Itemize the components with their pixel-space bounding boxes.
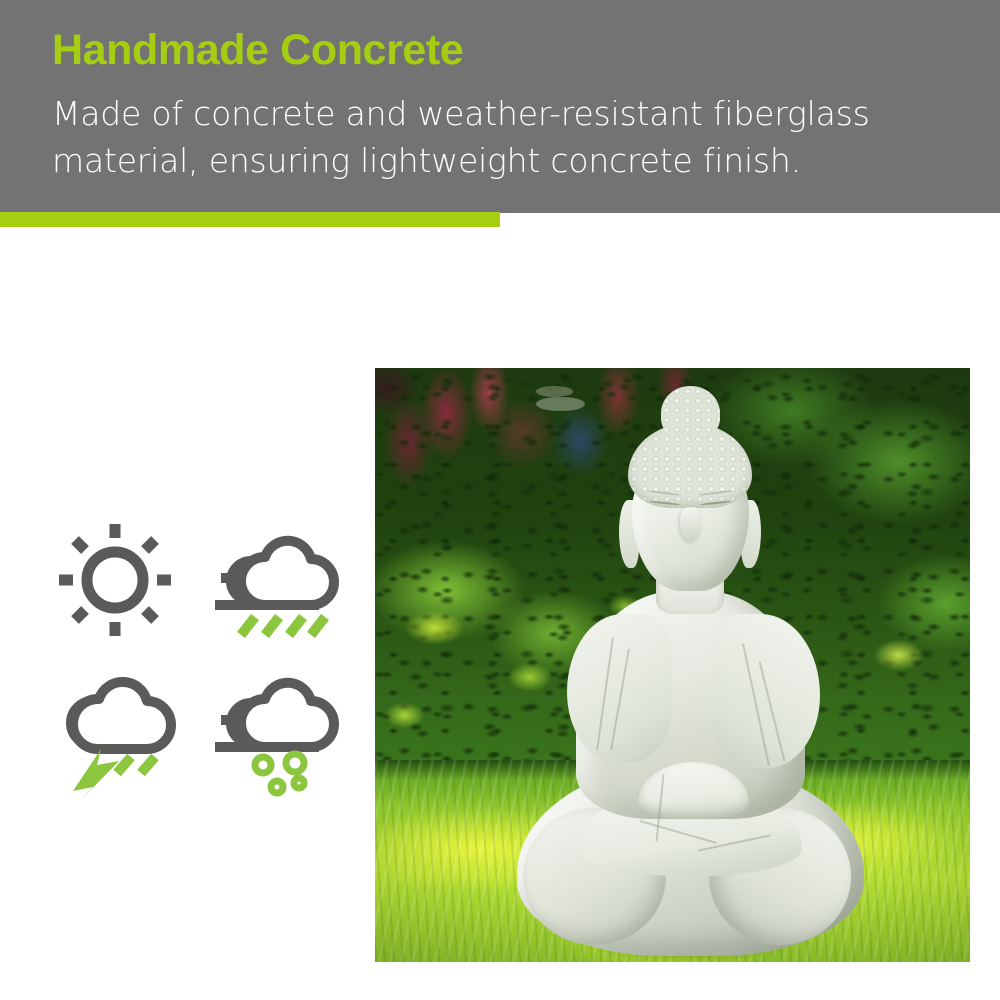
photo-scene [375,368,970,962]
sun-icon [55,520,175,640]
product-feature-card: Handmade Concrete Made of concrete and w… [0,0,1000,1000]
statue-nose [680,507,702,542]
statue-mouth [536,386,573,397]
statue-left-shoulder [567,614,672,762]
weather-icon-grid [55,515,355,810]
page-title: Handmade Concrete [52,26,463,75]
header-banner: Handmade Concrete Made of concrete and w… [0,0,1000,213]
cloud-rain-icon [207,523,342,643]
header-description-line-2: material, ensuring lightweight concrete … [52,137,972,184]
header-description-line-1: Made of concrete and weather-resistant f… [52,90,972,137]
accent-bar [0,212,500,227]
header-description: Made of concrete and weather-resistant f… [52,90,972,184]
buddha-statue-garden-photo [375,368,970,962]
statue-ushnisha-topknot [661,386,720,440]
cloud-lightning-icon [57,665,192,800]
buddha-statue [536,386,845,956]
cloud-snow-icon [207,665,342,800]
statue-chin-highlight [536,397,586,412]
